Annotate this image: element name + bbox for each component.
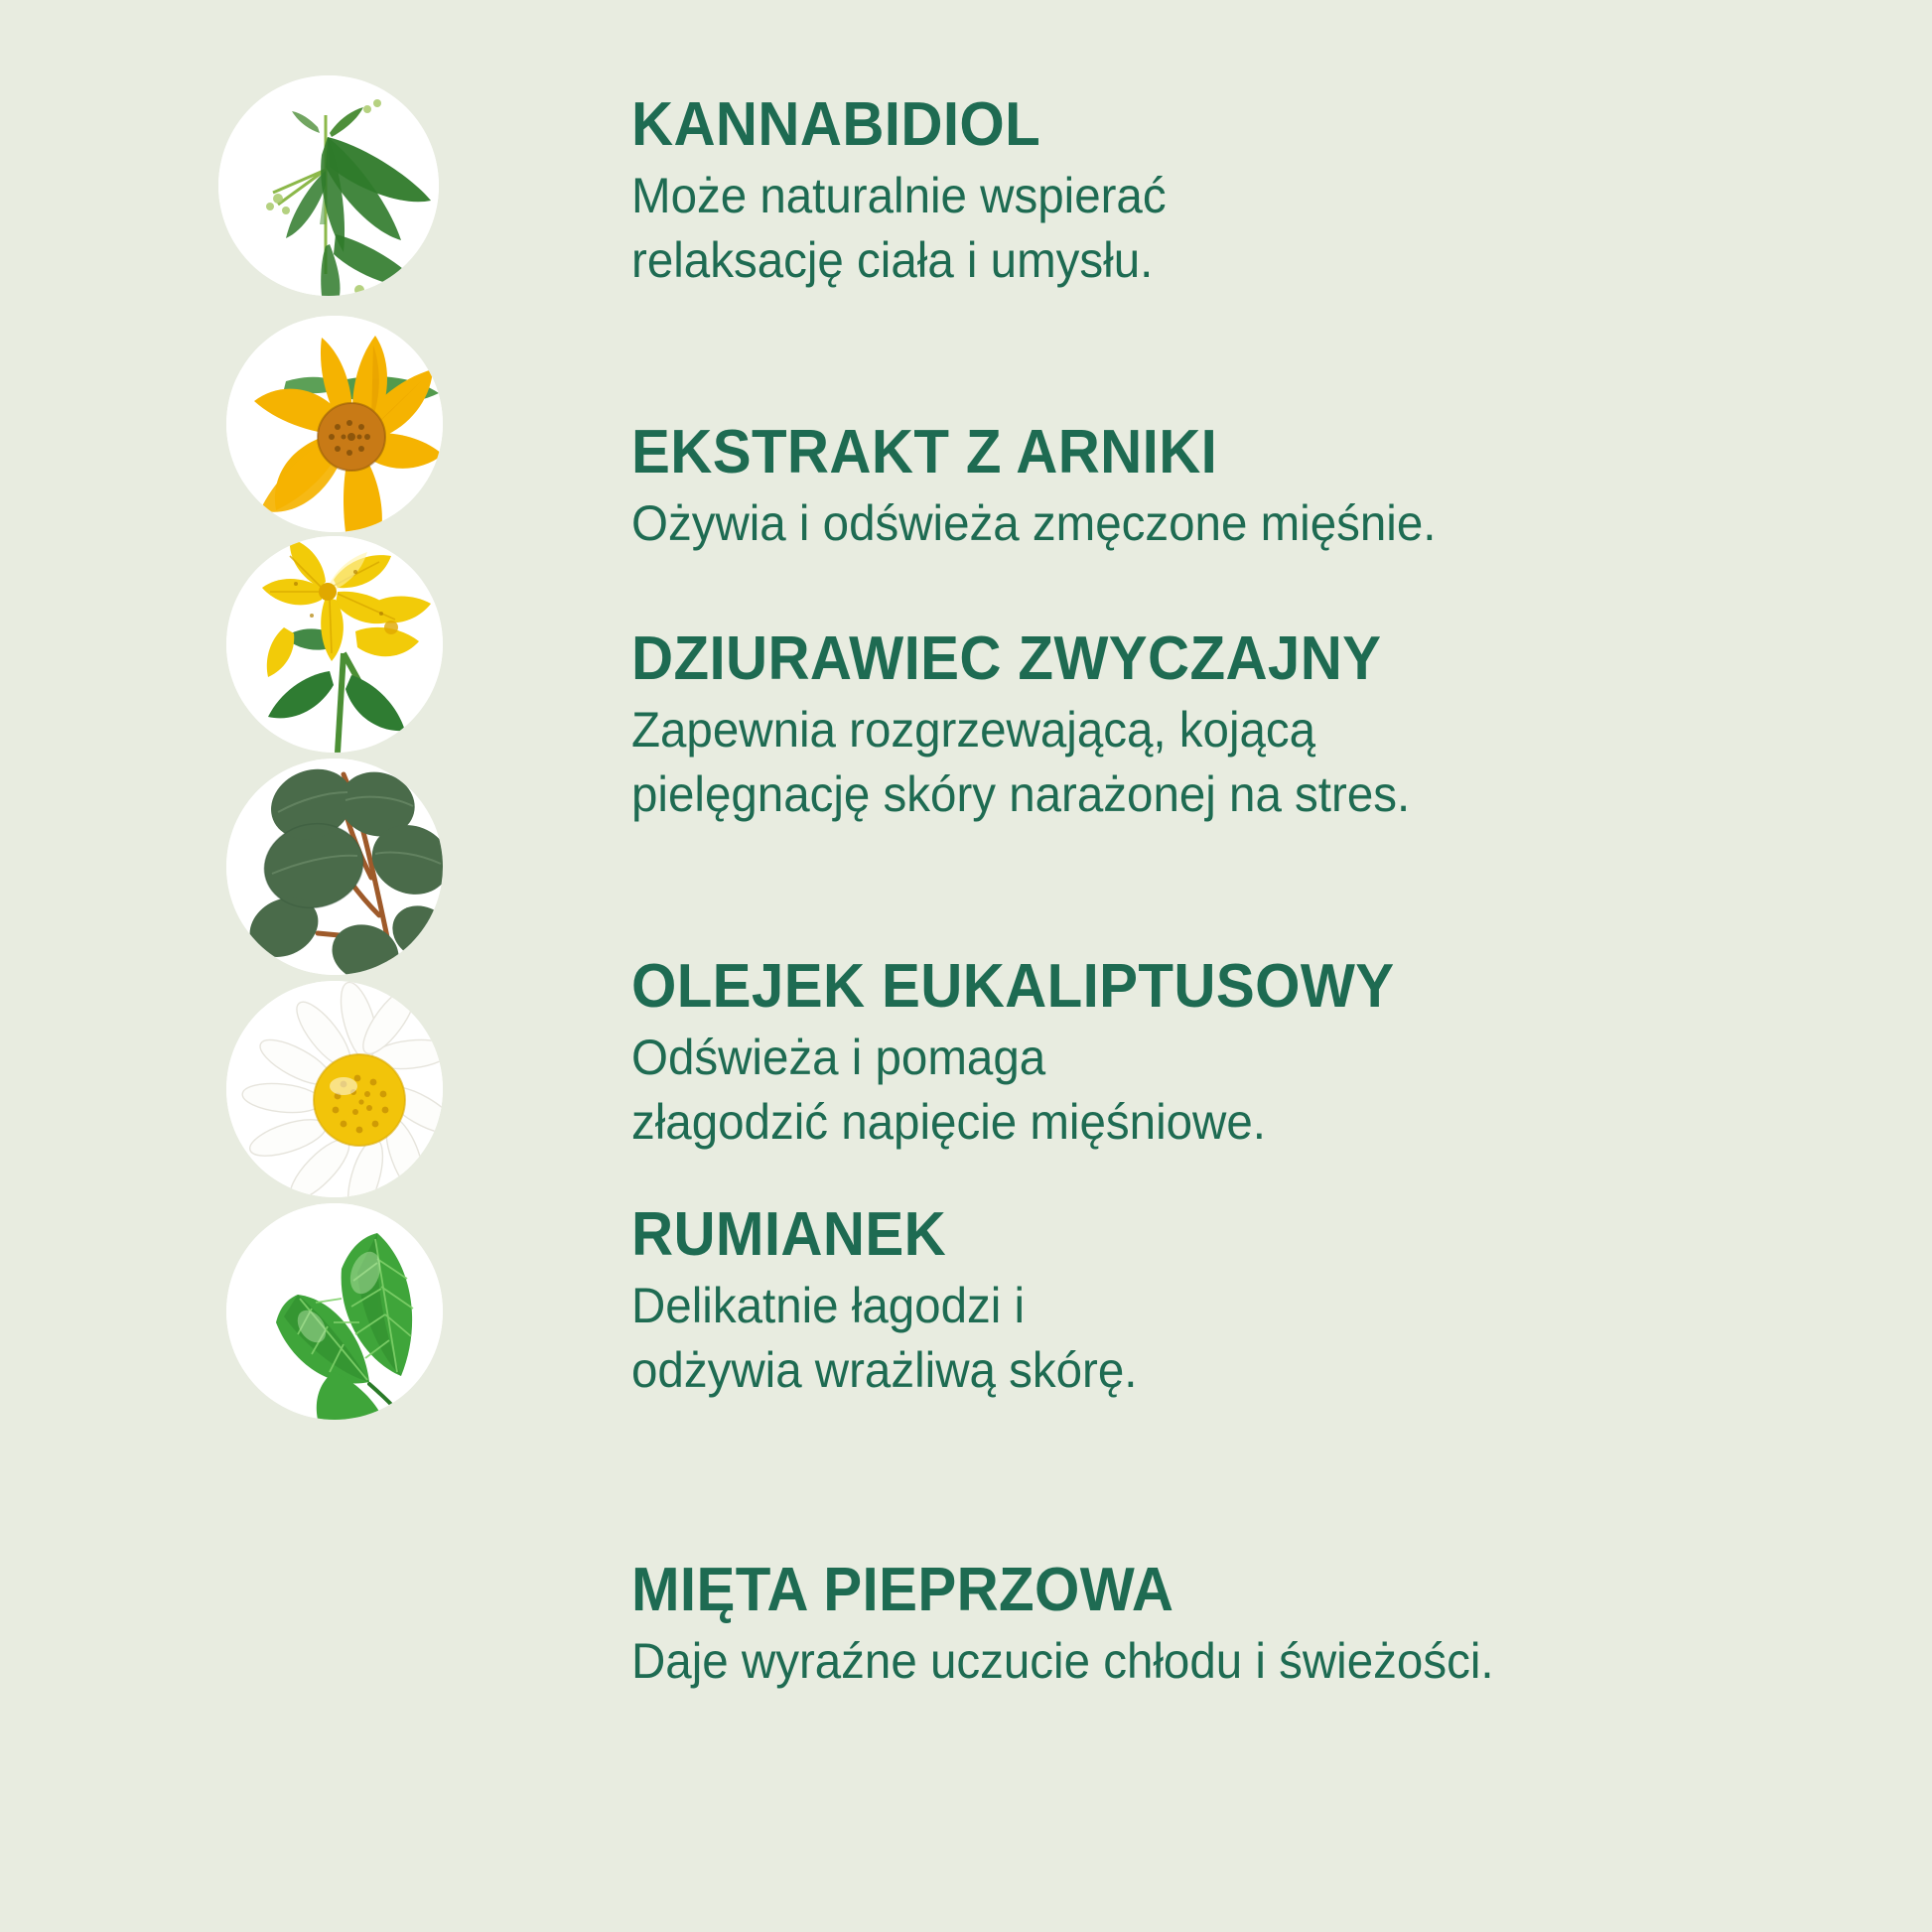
ingredient-text-4: RUMIANEK Delikatnie łagodzi i odżywia wr… — [631, 1203, 1853, 1403]
ingredient-title-0: KANNABIDIOL — [631, 93, 1779, 156]
ingredient-title-3: OLEJEK EUKALIPTUSOWY — [631, 955, 1789, 1018]
ingredient-description-4: Delikatnie łagodzi i odżywia wrażliwą sk… — [631, 1274, 1792, 1403]
ingredient-description-0: Może naturalnie wspierać relaksację ciał… — [631, 164, 1792, 293]
ingredient-text-1: EKSTRAKT Z ARNIKI Ożywia i odświeża zmęc… — [631, 421, 1853, 556]
ingredient-description-2: Zapewnia rozgrzewającą, kojącą pielęgnac… — [631, 698, 1820, 827]
st-johns-wort-photo-icon — [226, 536, 443, 753]
eucalyptus-leaves-photo-icon — [226, 759, 443, 975]
ingredient-title-4: RUMIANEK — [631, 1203, 1779, 1266]
ingredient-description-5: Daje wyraźne uczucie chłodu i świeżości. — [631, 1629, 1820, 1694]
ingredient-title-2: DZIURAWIEC ZWYCZAJNY — [631, 627, 1807, 690]
ingredient-title-5: MIĘTA PIEPRZOWA — [631, 1559, 1807, 1621]
arnica-flower-photo-icon — [226, 316, 443, 532]
ingredient-description-1: Ożywia i odświeża zmęczone mięśnie. — [631, 491, 1792, 556]
hemp-leaf-photo-icon — [218, 75, 439, 296]
peppermint-leaves-photo-icon — [226, 1203, 443, 1420]
ingredient-text-2: DZIURAWIEC ZWYCZAJNY Zapewnia rozgrzewaj… — [631, 627, 1882, 827]
ingredient-title-1: EKSTRAKT Z ARNIKI — [631, 421, 1779, 483]
chamomile-flower-photo-icon — [226, 981, 443, 1197]
ingredient-list-graphic: KANNABIDIOL Może naturalnie wspierać rel… — [0, 0, 1932, 1932]
ingredient-text-5: MIĘTA PIEPRZOWA Daje wyraźne uczucie chł… — [631, 1559, 1882, 1694]
ingredient-description-3: Odświeża i pomaga złagodzić napięcie mię… — [631, 1026, 1801, 1155]
ingredient-text-3: OLEJEK EUKALIPTUSOWY Odświeża i pomaga z… — [631, 955, 1863, 1155]
ingredient-text-0: KANNABIDIOL Może naturalnie wspierać rel… — [631, 93, 1853, 293]
